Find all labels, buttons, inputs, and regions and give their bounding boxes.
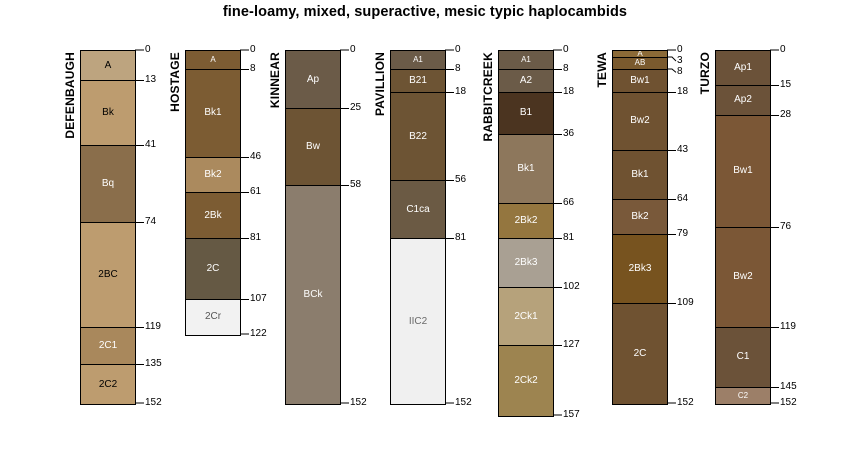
horizon-label: Ap1 xyxy=(734,63,752,73)
horizon[interactable]: Bk1 xyxy=(613,151,667,200)
horizon[interactable]: Bk xyxy=(81,81,135,146)
depth-tick xyxy=(240,69,249,70)
depth-label: 74 xyxy=(145,217,156,227)
figure-title: fine-loamy, mixed, superactive, mesic ty… xyxy=(0,4,850,20)
horizon-label: A xyxy=(105,61,112,71)
horizon-label: AB xyxy=(635,59,646,67)
depth-label: 127 xyxy=(563,340,580,350)
depth-label: 46 xyxy=(250,152,261,162)
horizon[interactable]: 2C2 xyxy=(81,365,135,405)
depth-label: 152 xyxy=(350,398,367,408)
depth-tick xyxy=(553,92,562,93)
horizon-label: 2Ck2 xyxy=(514,376,537,386)
depth-label: 66 xyxy=(563,198,574,208)
pedon-name-kinnear: KINNEAR xyxy=(268,52,282,108)
horizon-label: C2 xyxy=(738,392,748,400)
horizon[interactable]: Bk1 xyxy=(186,70,240,158)
depth-tick xyxy=(135,364,144,365)
horizon-label: A1 xyxy=(413,56,423,64)
depth-label: 109 xyxy=(677,298,694,308)
horizon[interactable]: A xyxy=(81,51,135,81)
depth-label: 15 xyxy=(780,80,791,90)
soil-profile-figure: fine-loamy, mixed, superactive, mesic ty… xyxy=(0,0,850,450)
profile-column-hostage: ABk1Bk22Bk2C2Cr xyxy=(185,50,241,336)
horizon-label: Bq xyxy=(102,179,114,189)
profile-column-kinnear: ApBwBCk xyxy=(285,50,341,405)
horizon[interactable]: A1 xyxy=(499,51,553,70)
horizon-label: Bw1 xyxy=(630,76,649,86)
depth-tick xyxy=(135,327,144,328)
horizon-label: Bw2 xyxy=(733,272,752,282)
depth-label: 157 xyxy=(563,410,580,420)
horizon[interactable]: Bq xyxy=(81,146,135,223)
horizon[interactable]: Bk1 xyxy=(499,135,553,205)
pedon-name-pavillion: PAVILLION xyxy=(373,52,387,116)
depth-label: 61 xyxy=(250,187,261,197)
depth-label: 58 xyxy=(350,180,361,190)
horizon-label: 2C2 xyxy=(99,380,117,390)
horizon-label: A2 xyxy=(520,76,532,86)
horizon-label: Bk xyxy=(102,108,114,118)
horizon[interactable]: Ap xyxy=(286,51,340,109)
depth-label: 76 xyxy=(780,222,791,232)
horizon-label: BCk xyxy=(304,290,323,300)
depth-label: 79 xyxy=(677,229,688,239)
depth-tick xyxy=(667,92,676,93)
horizon[interactable]: 2C xyxy=(613,304,667,404)
horizon-label: 2BC xyxy=(98,270,117,280)
horizon[interactable]: C1ca xyxy=(391,181,445,239)
depth-label: 8 xyxy=(677,67,683,77)
horizon[interactable]: Bw2 xyxy=(613,93,667,151)
profile-column-pavillion: A1B21B22C1caIIC2 xyxy=(390,50,446,405)
horizon-label: 2Ck1 xyxy=(514,312,537,322)
pedon-name-hostage: HOSTAGE xyxy=(168,52,182,112)
horizon[interactable]: Ap1 xyxy=(716,51,770,86)
depth-tick xyxy=(553,345,562,346)
profile-column-turzo: Ap1Ap2Bw1Bw2C1C2 xyxy=(715,50,771,405)
horizon[interactable]: C1 xyxy=(716,328,770,388)
horizon-label: Bk1 xyxy=(204,108,221,118)
depth-label: 25 xyxy=(350,103,361,113)
depth-label: 145 xyxy=(780,382,797,392)
horizon-label: Bk1 xyxy=(517,164,534,174)
depth-label: 119 xyxy=(145,322,161,332)
horizon[interactable]: B22 xyxy=(391,93,445,181)
horizon-label: A1 xyxy=(521,56,531,64)
depth-label: 28 xyxy=(780,110,791,120)
horizon[interactable]: Bk2 xyxy=(186,158,240,193)
horizon-label: Bk2 xyxy=(204,170,221,180)
horizon-label: C1 xyxy=(737,352,750,362)
horizon-label: Bk1 xyxy=(631,170,648,180)
depth-tick xyxy=(667,303,676,304)
depth-label: 18 xyxy=(677,87,688,97)
horizon[interactable]: 2Bk3 xyxy=(499,239,553,288)
horizon-label: 2Bk3 xyxy=(629,264,652,274)
horizon[interactable]: 2Cr xyxy=(186,300,240,335)
horizon[interactable]: B1 xyxy=(499,93,553,135)
depth-label: 81 xyxy=(250,233,261,243)
horizon[interactable]: A2 xyxy=(499,70,553,93)
horizon[interactable]: 2C1 xyxy=(81,328,135,365)
pedon-name-defenbaugh: DEFENBAUGH xyxy=(63,52,77,139)
horizon-label: 2C xyxy=(634,349,647,359)
profile-column-tewa: AABBw1Bw2Bk1Bk22Bk32C xyxy=(612,50,668,405)
depth-tick xyxy=(340,185,349,186)
depth-tick xyxy=(667,199,676,200)
horizon-label: Bw1 xyxy=(733,166,752,176)
depth-label: 0 xyxy=(563,45,569,55)
horizon[interactable]: A xyxy=(186,51,240,70)
depth-tick xyxy=(240,238,249,239)
depth-tick xyxy=(770,85,779,86)
horizon-label: 2Bk3 xyxy=(515,258,538,268)
depth-label: 8 xyxy=(250,64,256,74)
depth-label: 152 xyxy=(145,398,162,408)
horizon-label: Ap xyxy=(307,75,319,85)
depth-tick xyxy=(240,299,249,300)
depth-label: 0 xyxy=(455,45,461,55)
horizon-label: Bw xyxy=(306,142,320,152)
horizon[interactable]: Bw1 xyxy=(613,70,667,93)
depth-label: 43 xyxy=(677,145,688,155)
depth-tick xyxy=(553,203,562,204)
profile-column-rabbitcreek: A1A2B1Bk12Bk22Bk32Ck12Ck2 xyxy=(498,50,554,417)
depth-label: 119 xyxy=(780,322,796,332)
horizon[interactable]: C2 xyxy=(716,388,770,404)
horizon[interactable]: Bk2 xyxy=(613,200,667,235)
horizon[interactable]: Bw1 xyxy=(716,116,770,228)
depth-tick xyxy=(240,192,249,193)
depth-tick xyxy=(553,134,562,135)
depth-tick xyxy=(770,327,779,328)
horizon-label: 2Bk xyxy=(204,211,221,221)
horizon-label: IIC2 xyxy=(409,317,427,327)
depth-tick xyxy=(667,234,676,235)
horizon[interactable]: BCk xyxy=(286,186,340,405)
depth-tick xyxy=(770,115,779,116)
depth-label: 81 xyxy=(455,233,466,243)
horizon[interactable]: AB xyxy=(613,58,667,70)
depth-tick xyxy=(340,108,349,109)
horizon-label: 2C xyxy=(207,264,220,274)
horizon[interactable]: A1 xyxy=(391,51,445,70)
horizon[interactable]: A xyxy=(613,51,667,58)
horizon[interactable]: Bw xyxy=(286,109,340,186)
horizon-label: Bk2 xyxy=(631,212,648,222)
horizon-label: Ap2 xyxy=(734,95,752,105)
depth-tick xyxy=(240,157,249,158)
depth-label: 64 xyxy=(677,194,688,204)
depth-tick xyxy=(445,238,454,239)
horizon-label: Bw2 xyxy=(630,116,649,126)
depth-tick xyxy=(135,222,144,223)
horizon[interactable]: Ap2 xyxy=(716,86,770,116)
horizon[interactable]: 2Bk xyxy=(186,193,240,240)
horizon[interactable]: 2Ck2 xyxy=(499,346,553,416)
pedon-name-rabbitcreek: RABBITCREEK xyxy=(481,52,495,142)
depth-tick xyxy=(553,69,562,70)
horizon[interactable]: Bw2 xyxy=(716,228,770,328)
horizon-label: B22 xyxy=(409,132,427,142)
horizon-label: 2Cr xyxy=(205,312,221,322)
horizon-label: C1ca xyxy=(406,205,429,215)
horizon-label: A xyxy=(637,51,642,58)
depth-label: 8 xyxy=(455,64,461,74)
pedon-name-tewa: TEWA xyxy=(595,52,609,87)
depth-label: 0 xyxy=(350,45,356,55)
depth-tick xyxy=(135,80,144,81)
profile-column-defenbaugh: ABkBq2BC2C12C2 xyxy=(80,50,136,405)
depth-label: 0 xyxy=(145,45,151,55)
horizon[interactable]: 2Ck1 xyxy=(499,288,553,346)
depth-label: 8 xyxy=(563,64,569,74)
depth-tick xyxy=(770,227,779,228)
depth-tick xyxy=(445,69,454,70)
depth-label: 18 xyxy=(455,87,466,97)
horizon[interactable]: 2Bk3 xyxy=(613,235,667,305)
depth-label: 36 xyxy=(563,129,574,139)
depth-label: 135 xyxy=(145,359,162,369)
horizon[interactable]: B21 xyxy=(391,70,445,93)
horizon-label: B1 xyxy=(520,108,532,118)
depth-label: 102 xyxy=(563,282,580,292)
depth-label: 13 xyxy=(145,75,156,85)
depth-label: 152 xyxy=(677,398,694,408)
depth-label: 81 xyxy=(563,233,574,243)
depth-label: 0 xyxy=(250,45,256,55)
depth-label: 56 xyxy=(455,175,466,185)
horizon[interactable]: IIC2 xyxy=(391,239,445,404)
depth-label: 41 xyxy=(145,140,156,150)
depth-label: 152 xyxy=(455,398,472,408)
depth-tick xyxy=(770,387,779,388)
horizon[interactable]: 2BC xyxy=(81,223,135,328)
horizon-label: A xyxy=(210,56,215,64)
depth-label: 152 xyxy=(780,398,797,408)
depth-tick xyxy=(445,180,454,181)
depth-label: 122 xyxy=(250,329,267,339)
horizon-label: 2Bk2 xyxy=(515,216,538,226)
horizon[interactable]: 2Bk2 xyxy=(499,204,553,239)
depth-label: 18 xyxy=(563,87,574,97)
horizon-label: B21 xyxy=(409,76,427,86)
depth-tick xyxy=(445,92,454,93)
depth-tick xyxy=(553,238,562,239)
depth-label: 107 xyxy=(250,294,267,304)
pedon-name-turzo: TURZO xyxy=(698,52,712,94)
horizon-label: 2C1 xyxy=(99,341,117,351)
depth-tick xyxy=(553,287,562,288)
depth-tick xyxy=(135,145,144,146)
depth-label: 0 xyxy=(780,45,786,55)
depth-tick xyxy=(667,150,676,151)
horizon[interactable]: 2C xyxy=(186,239,240,299)
